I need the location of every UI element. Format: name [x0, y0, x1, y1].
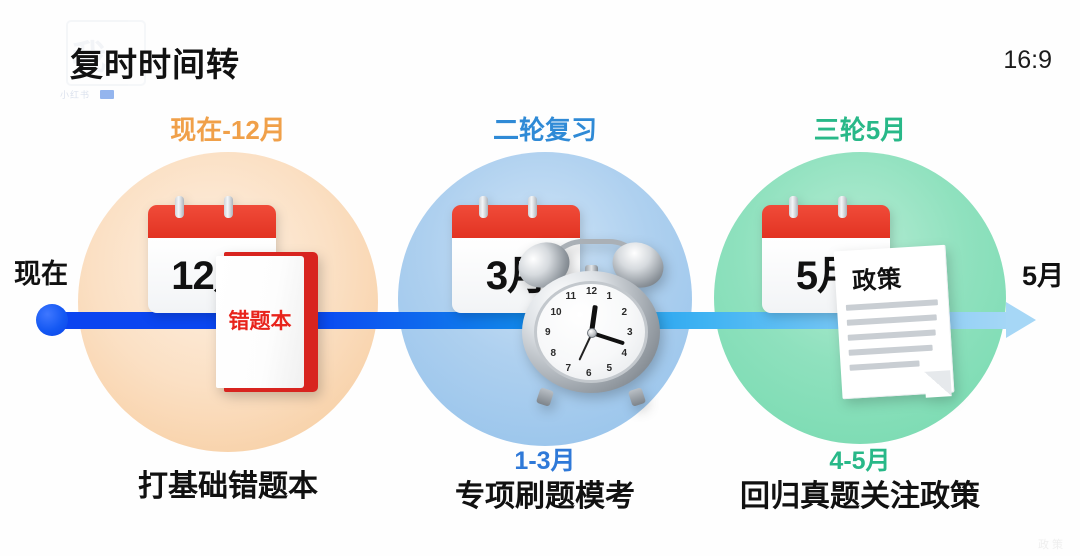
clock-numeral: 7 [566, 363, 572, 374]
clock-numeral: 4 [622, 348, 628, 359]
watermark-bottom-right: 政策 [1038, 536, 1066, 552]
clock-numeral: 6 [586, 368, 592, 379]
clock-center-pin [587, 328, 597, 338]
phase-one-description: 打基础错题本 [78, 470, 378, 505]
page-title: 复时时间转 [70, 38, 240, 86]
timeline-end-label: 5月 [1022, 254, 1064, 293]
calendar-ring [789, 196, 798, 218]
calendar-ring [224, 196, 233, 218]
document-line [849, 345, 933, 356]
phase-one-top-label: 现在-12月 [78, 110, 378, 147]
clock-numeral: 3 [627, 327, 633, 338]
timeline-start-dot [36, 304, 68, 336]
clock-numeral: 12 [586, 286, 597, 297]
document-line [849, 360, 919, 370]
book-cover: 错题本 [216, 256, 304, 388]
document-line [848, 329, 936, 340]
aspect-ratio-badge: 16:9 [1003, 46, 1052, 75]
calendar-header [148, 205, 276, 238]
phase-three-description: 回归真题关注政策 [714, 480, 1006, 515]
phase-two-bottom: 1-3月 专项刷题模考 [398, 448, 692, 514]
watermark-chip [100, 90, 114, 99]
phase-two-top-label: 二轮复习 [398, 110, 692, 147]
clock-numeral: 5 [607, 363, 613, 374]
phase-three-range-label: 4-5月 [714, 448, 1006, 476]
policy-document-icon: 政策 [838, 248, 950, 396]
clock-numeral: 10 [550, 307, 561, 318]
timeline-start-label: 现在 [14, 252, 68, 291]
document-title-label: 政策 [851, 259, 903, 297]
calendar-ring [479, 196, 488, 218]
calendar-ring [838, 196, 847, 218]
calendar-ring [528, 196, 537, 218]
phase-two-description: 专项刷题模考 [398, 480, 692, 515]
calendar-header [762, 205, 890, 238]
mistake-notebook-icon: 错题本 [216, 252, 316, 392]
alarm-clock-icon: 121234567891011 [516, 243, 666, 403]
document-text-lines [846, 299, 942, 379]
clock-numeral: 2 [622, 307, 628, 318]
clock-numeral: 8 [550, 348, 556, 359]
slide-canvas: 我 小红书 复时时间转 16:9 现在-12月 二轮复习 三轮5月 现在 5月 … [0, 0, 1080, 556]
phase-one-bottom: 打基础错题本 [78, 470, 378, 505]
book-title-label: 错题本 [229, 311, 292, 333]
clock-numeral: 1 [607, 291, 613, 302]
watermark-small-text: 小红书 [60, 88, 90, 101]
document-line [847, 314, 937, 325]
clock-numeral: 9 [545, 327, 551, 338]
phase-three-bottom: 4-5月 回归真题关注政策 [714, 448, 1006, 514]
phase-two-range-label: 1-3月 [398, 448, 692, 476]
calendar-header [452, 205, 580, 238]
timeline-arrow-icon [1006, 302, 1036, 338]
phase-three-top-label: 三轮5月 [714, 110, 1006, 147]
clock-numeral: 11 [566, 291, 577, 302]
calendar-ring [175, 196, 184, 218]
